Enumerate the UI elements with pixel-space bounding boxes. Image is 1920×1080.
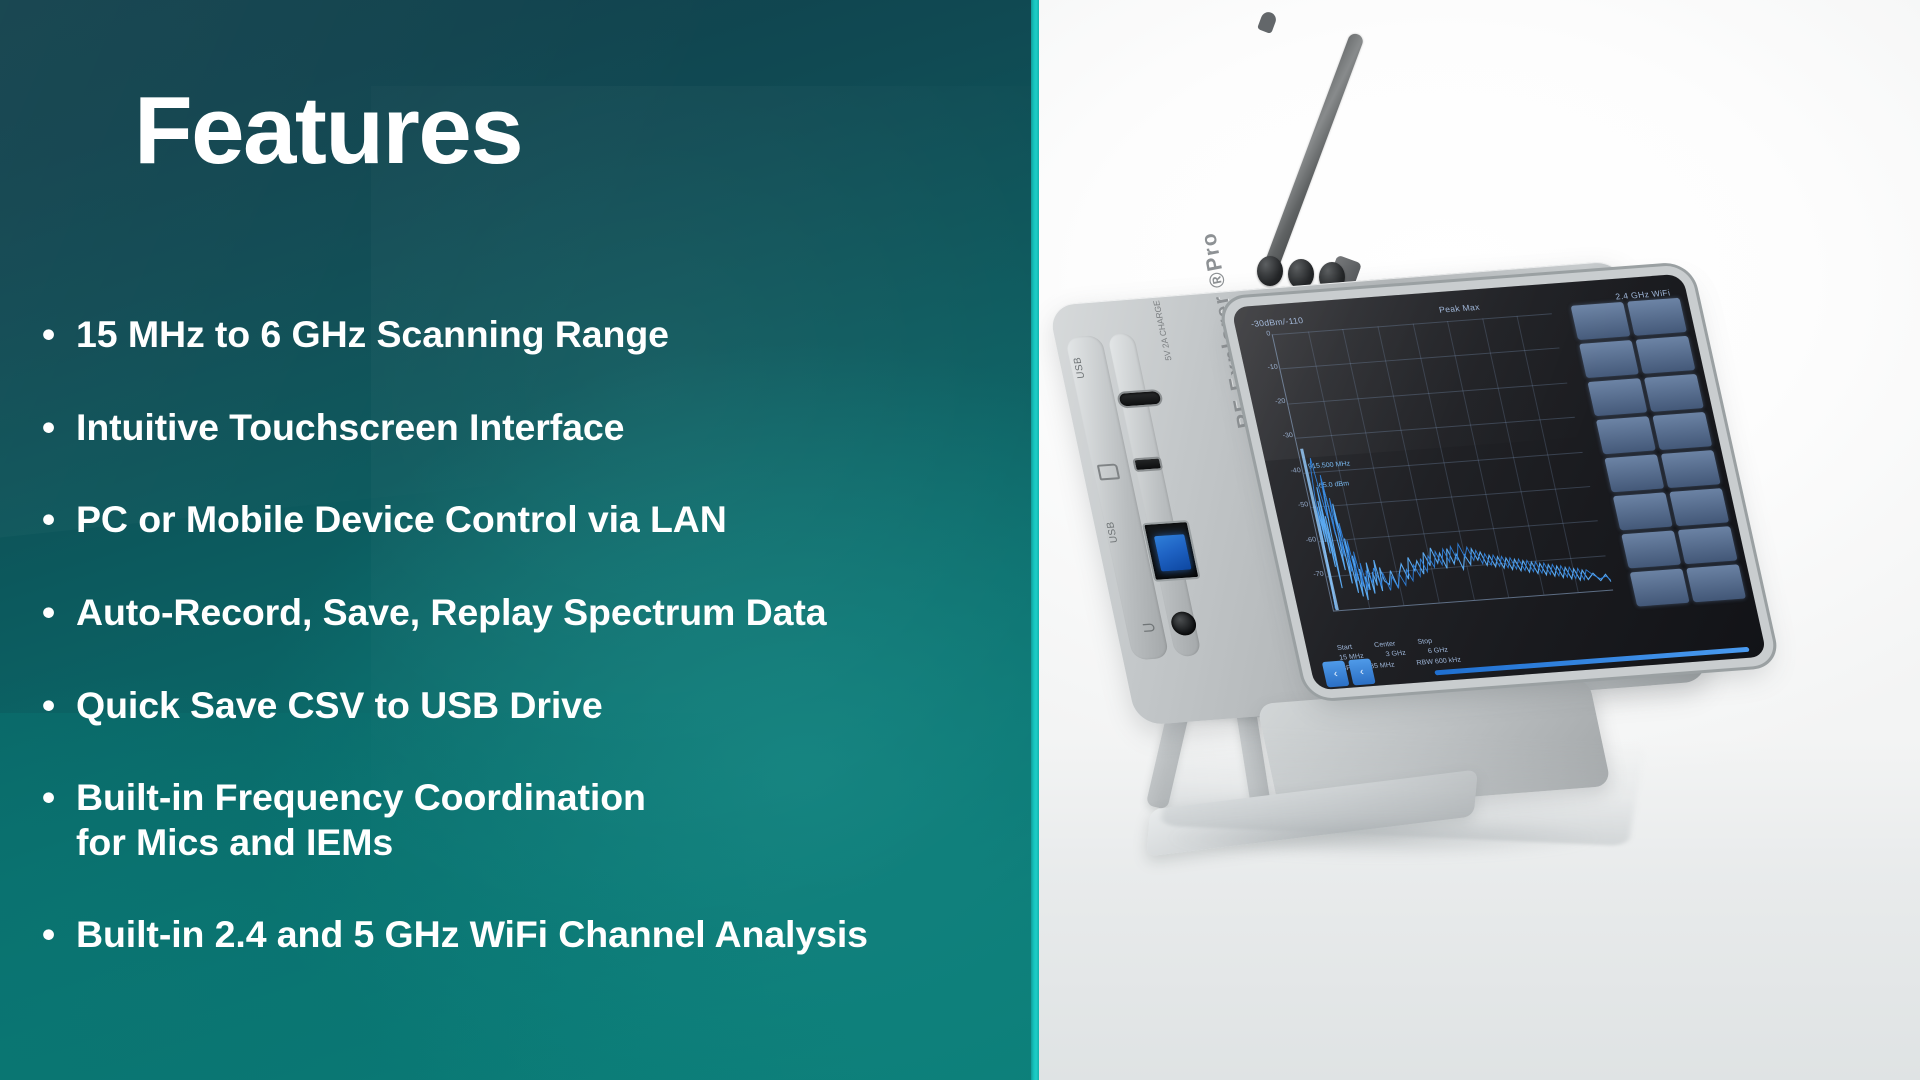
softkey[interactable] xyxy=(1596,416,1656,454)
product-photo: USB 5V 2A CHARGE USB ⊃ RF Explorer ®Pro … xyxy=(1039,0,1920,1080)
feature-text: Intuitive Touchscreen Interface xyxy=(76,405,624,450)
list-item: • Intuitive Touchscreen Interface xyxy=(42,405,1002,450)
y-axis-tick: -10 xyxy=(1259,363,1279,371)
device-display: -30dBm/-110 Peak Max 2.4 GHz WiFi xyxy=(1231,274,1767,691)
page-title: Features xyxy=(134,83,522,179)
y-axis-tick: -20 xyxy=(1267,398,1287,406)
list-item: • Built-in Frequency Coordination for Mi… xyxy=(42,775,1002,864)
feature-text: Auto-Record, Save, Replay Spectrum Data xyxy=(76,590,826,635)
sma-connector-icon xyxy=(1257,256,1283,286)
softkey[interactable] xyxy=(1686,564,1746,602)
headphone-jack xyxy=(1169,611,1198,636)
softkey[interactable] xyxy=(1604,454,1664,492)
y-axis-tick: -70 xyxy=(1305,571,1325,579)
bullet-icon: • xyxy=(42,590,76,635)
softkey[interactable] xyxy=(1652,412,1712,450)
headphone-icon: ⊃ xyxy=(1140,618,1159,639)
usb-a-port xyxy=(1142,520,1201,582)
list-item: • Built-in 2.4 and 5 GHz WiFi Channel An… xyxy=(42,912,1002,957)
antenna-icon xyxy=(1260,32,1364,279)
panel-content: Features • 15 MHz to 6 GHz Scanning Rang… xyxy=(0,0,1031,1080)
y-axis-tick: -30 xyxy=(1274,432,1294,440)
softkey[interactable] xyxy=(1669,488,1729,526)
list-item: • PC or Mobile Device Control via LAN xyxy=(42,497,1002,542)
micro-usb-port xyxy=(1132,456,1163,472)
bullet-icon: • xyxy=(42,912,76,957)
softkey[interactable] xyxy=(1630,568,1690,606)
screen-mode-label: Peak Max xyxy=(1438,302,1481,315)
list-item: • 15 MHz to 6 GHz Scanning Range xyxy=(42,312,1002,357)
y-axis-tick: 0 xyxy=(1252,330,1272,338)
screen-amplitude-label: -30dBm/-110 xyxy=(1250,315,1304,329)
softkey[interactable] xyxy=(1579,340,1639,378)
device-reflection xyxy=(1160,721,1647,846)
feature-text: PC or Mobile Device Control via LAN xyxy=(76,497,727,542)
softkey[interactable] xyxy=(1587,378,1647,416)
list-item: • Quick Save CSV to USB Drive xyxy=(42,683,1002,728)
bullet-icon: • xyxy=(42,683,76,728)
y-axis-tick: -60 xyxy=(1297,536,1317,544)
features-panel: Features • 15 MHz to 6 GHz Scanning Rang… xyxy=(0,0,1031,1080)
softkey[interactable] xyxy=(1613,492,1673,530)
softkey[interactable] xyxy=(1635,336,1695,374)
softkey[interactable] xyxy=(1661,450,1721,488)
usb-c-port xyxy=(1116,389,1164,409)
usb-a-label: USB xyxy=(1105,521,1121,543)
feature-text: Built-in Frequency Coordination for Mics… xyxy=(76,775,646,864)
sd-card-icon xyxy=(1097,463,1120,480)
panel-divider xyxy=(1031,0,1039,1080)
usb-c-label: USB xyxy=(1072,357,1088,379)
antenna-tip-icon xyxy=(1257,10,1278,34)
feature-text: 15 MHz to 6 GHz Scanning Range xyxy=(76,312,669,357)
feature-list: • 15 MHz to 6 GHz Scanning Range • Intui… xyxy=(42,312,1002,957)
footer-value-center: 3 GHz xyxy=(1385,649,1407,661)
device-assembly: USB 5V 2A CHARGE USB ⊃ RF Explorer ®Pro … xyxy=(1039,0,1920,1080)
softkey[interactable] xyxy=(1621,530,1681,568)
features-slide: Features • 15 MHz to 6 GHz Scanning Rang… xyxy=(0,0,1920,1080)
softkey[interactable] xyxy=(1627,298,1687,336)
softkey[interactable] xyxy=(1678,526,1738,564)
y-axis-tick: -40 xyxy=(1282,467,1302,475)
footer-rbw-label: RBW 600 kHz xyxy=(1416,655,1463,669)
feature-text: Built-in 2.4 and 5 GHz WiFi Channel Anal… xyxy=(76,912,868,957)
spectrum-plot: 0 -10 -20 -30 -40 -50 -60 -70 915.500 MH… xyxy=(1272,313,1614,611)
bullet-icon: • xyxy=(42,497,76,542)
softkey[interactable] xyxy=(1571,302,1631,340)
spectrum-trace xyxy=(1273,313,1613,610)
softkey[interactable] xyxy=(1644,374,1704,412)
bullet-icon: • xyxy=(42,775,76,820)
list-item: • Auto-Record, Save, Replay Spectrum Dat… xyxy=(42,590,1002,635)
y-axis-tick: -50 xyxy=(1290,502,1310,510)
bullet-icon: • xyxy=(42,405,76,450)
bullet-icon: • xyxy=(42,312,76,357)
feature-text: Quick Save CSV to USB Drive xyxy=(76,683,603,728)
